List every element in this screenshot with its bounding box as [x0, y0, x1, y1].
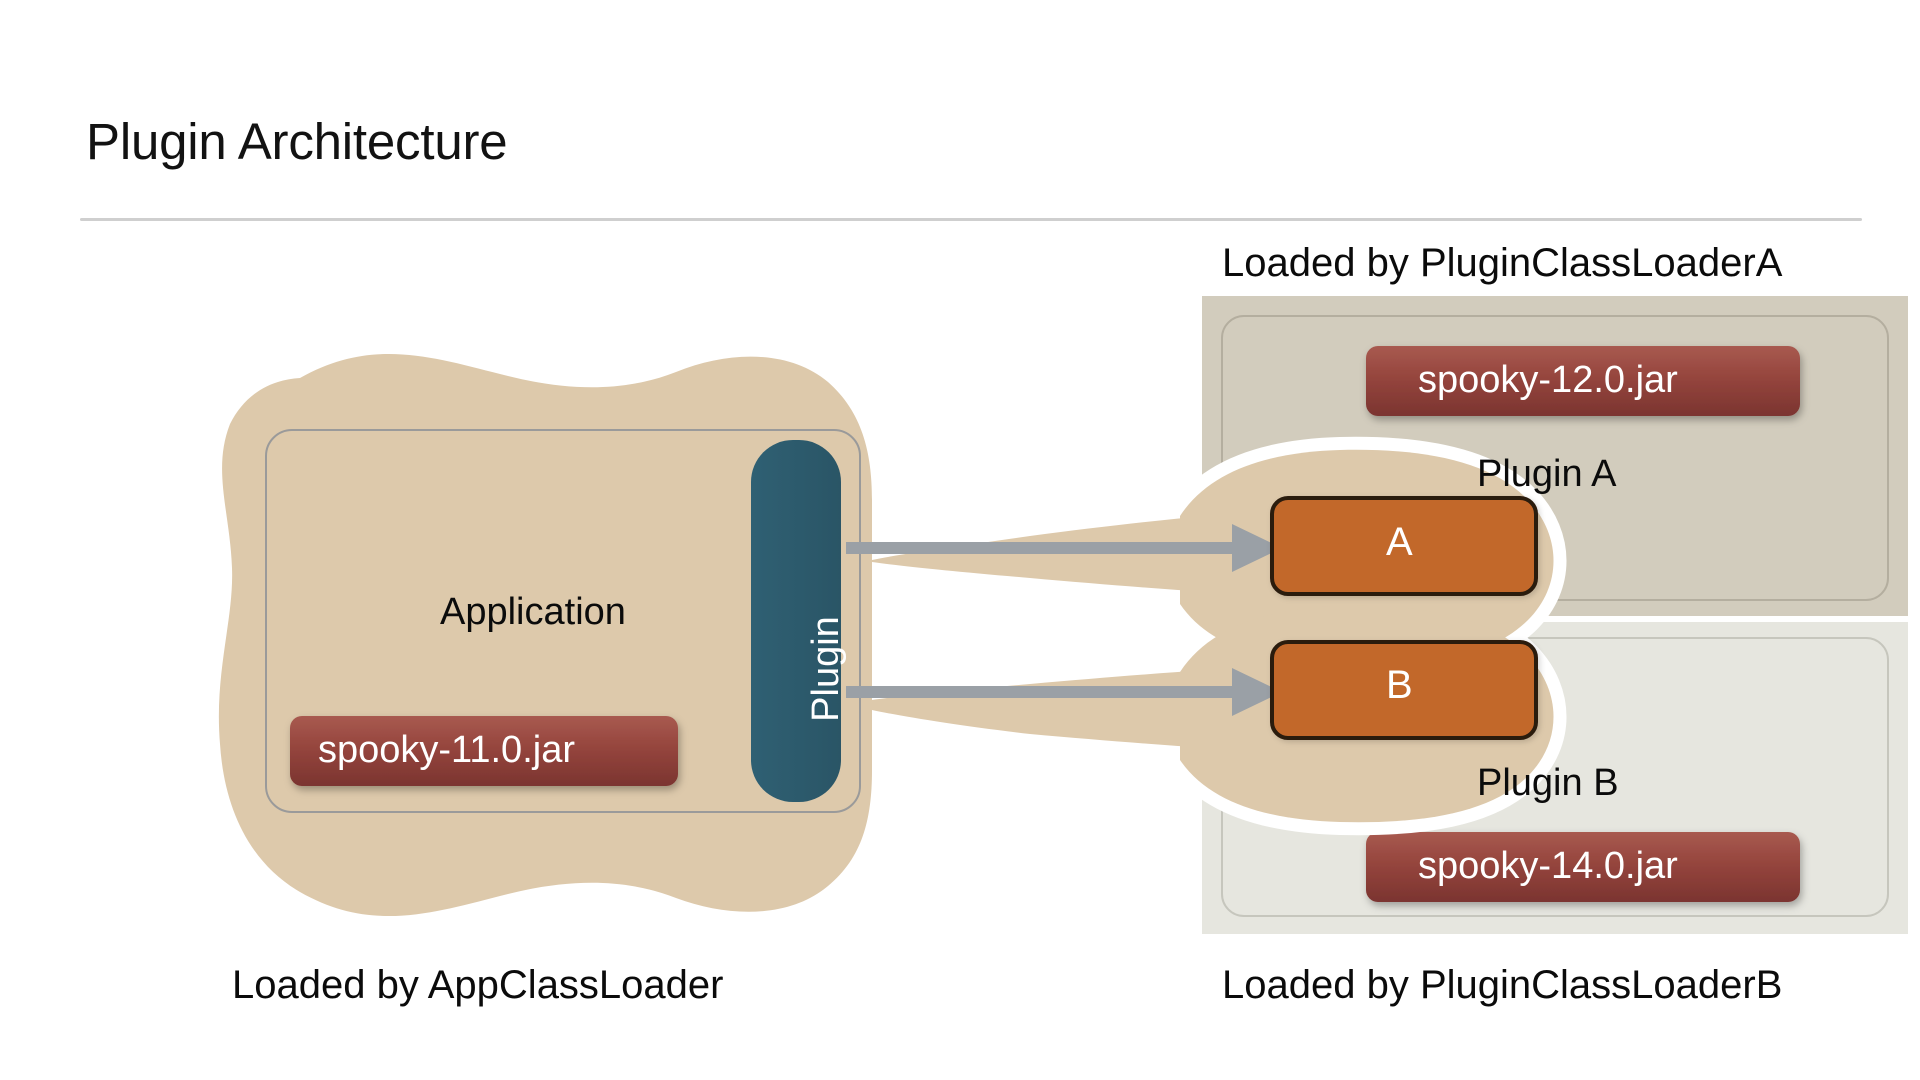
spooky-12-jar-label: spooky-12.0.jar — [1418, 361, 1678, 399]
class-box-a-label: A — [1386, 522, 1413, 562]
application-label: Application — [440, 593, 626, 631]
caption-pluginclassloader-a: Loaded by PluginClassLoaderA — [1222, 243, 1782, 283]
caption-pluginclassloader-b: Loaded by PluginClassLoaderB — [1222, 965, 1782, 1005]
spooky-11-jar-label: spooky-11.0.jar — [318, 731, 575, 769]
plugin-bar[interactable] — [751, 440, 841, 802]
plugin-a-label: Plugin A — [1477, 455, 1616, 493]
slide-canvas: Plugin Architecture Loaded by AppClassLo… — [0, 0, 1920, 1080]
caption-app-classloader: Loaded by AppClassLoader — [232, 965, 723, 1005]
plugin-b-label: Plugin B — [1477, 764, 1619, 802]
title-divider — [80, 218, 1862, 221]
arrow-a-shaft — [846, 542, 1244, 554]
page-title: Plugin Architecture — [86, 116, 507, 167]
class-box-b-label: B — [1386, 665, 1413, 705]
arrow-b-shaft — [846, 686, 1244, 698]
spooky-14-jar-label: spooky-14.0.jar — [1418, 847, 1678, 885]
